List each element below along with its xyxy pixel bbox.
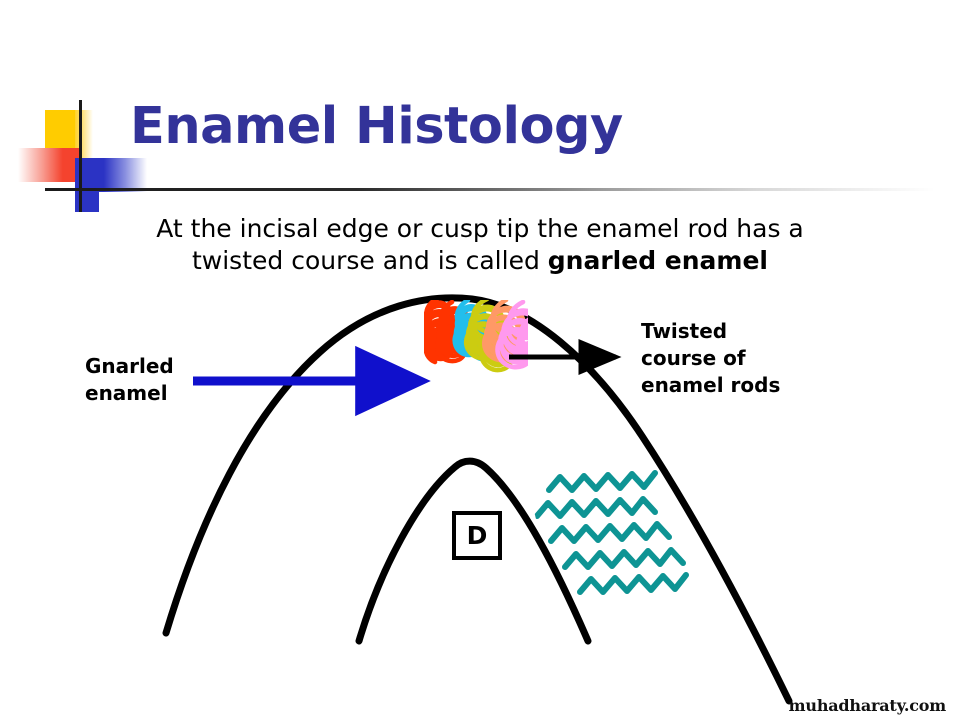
label-twisted-course: Twisted course of enamel rods bbox=[641, 318, 780, 399]
label-gnarled-enamel: Gnarled enamel bbox=[85, 353, 174, 407]
slide-canvas: Enamel Histology At the incisal edge or … bbox=[0, 0, 960, 720]
label-dentin-box: D bbox=[452, 511, 502, 560]
site-watermark: muhadharaty.com bbox=[789, 696, 946, 715]
